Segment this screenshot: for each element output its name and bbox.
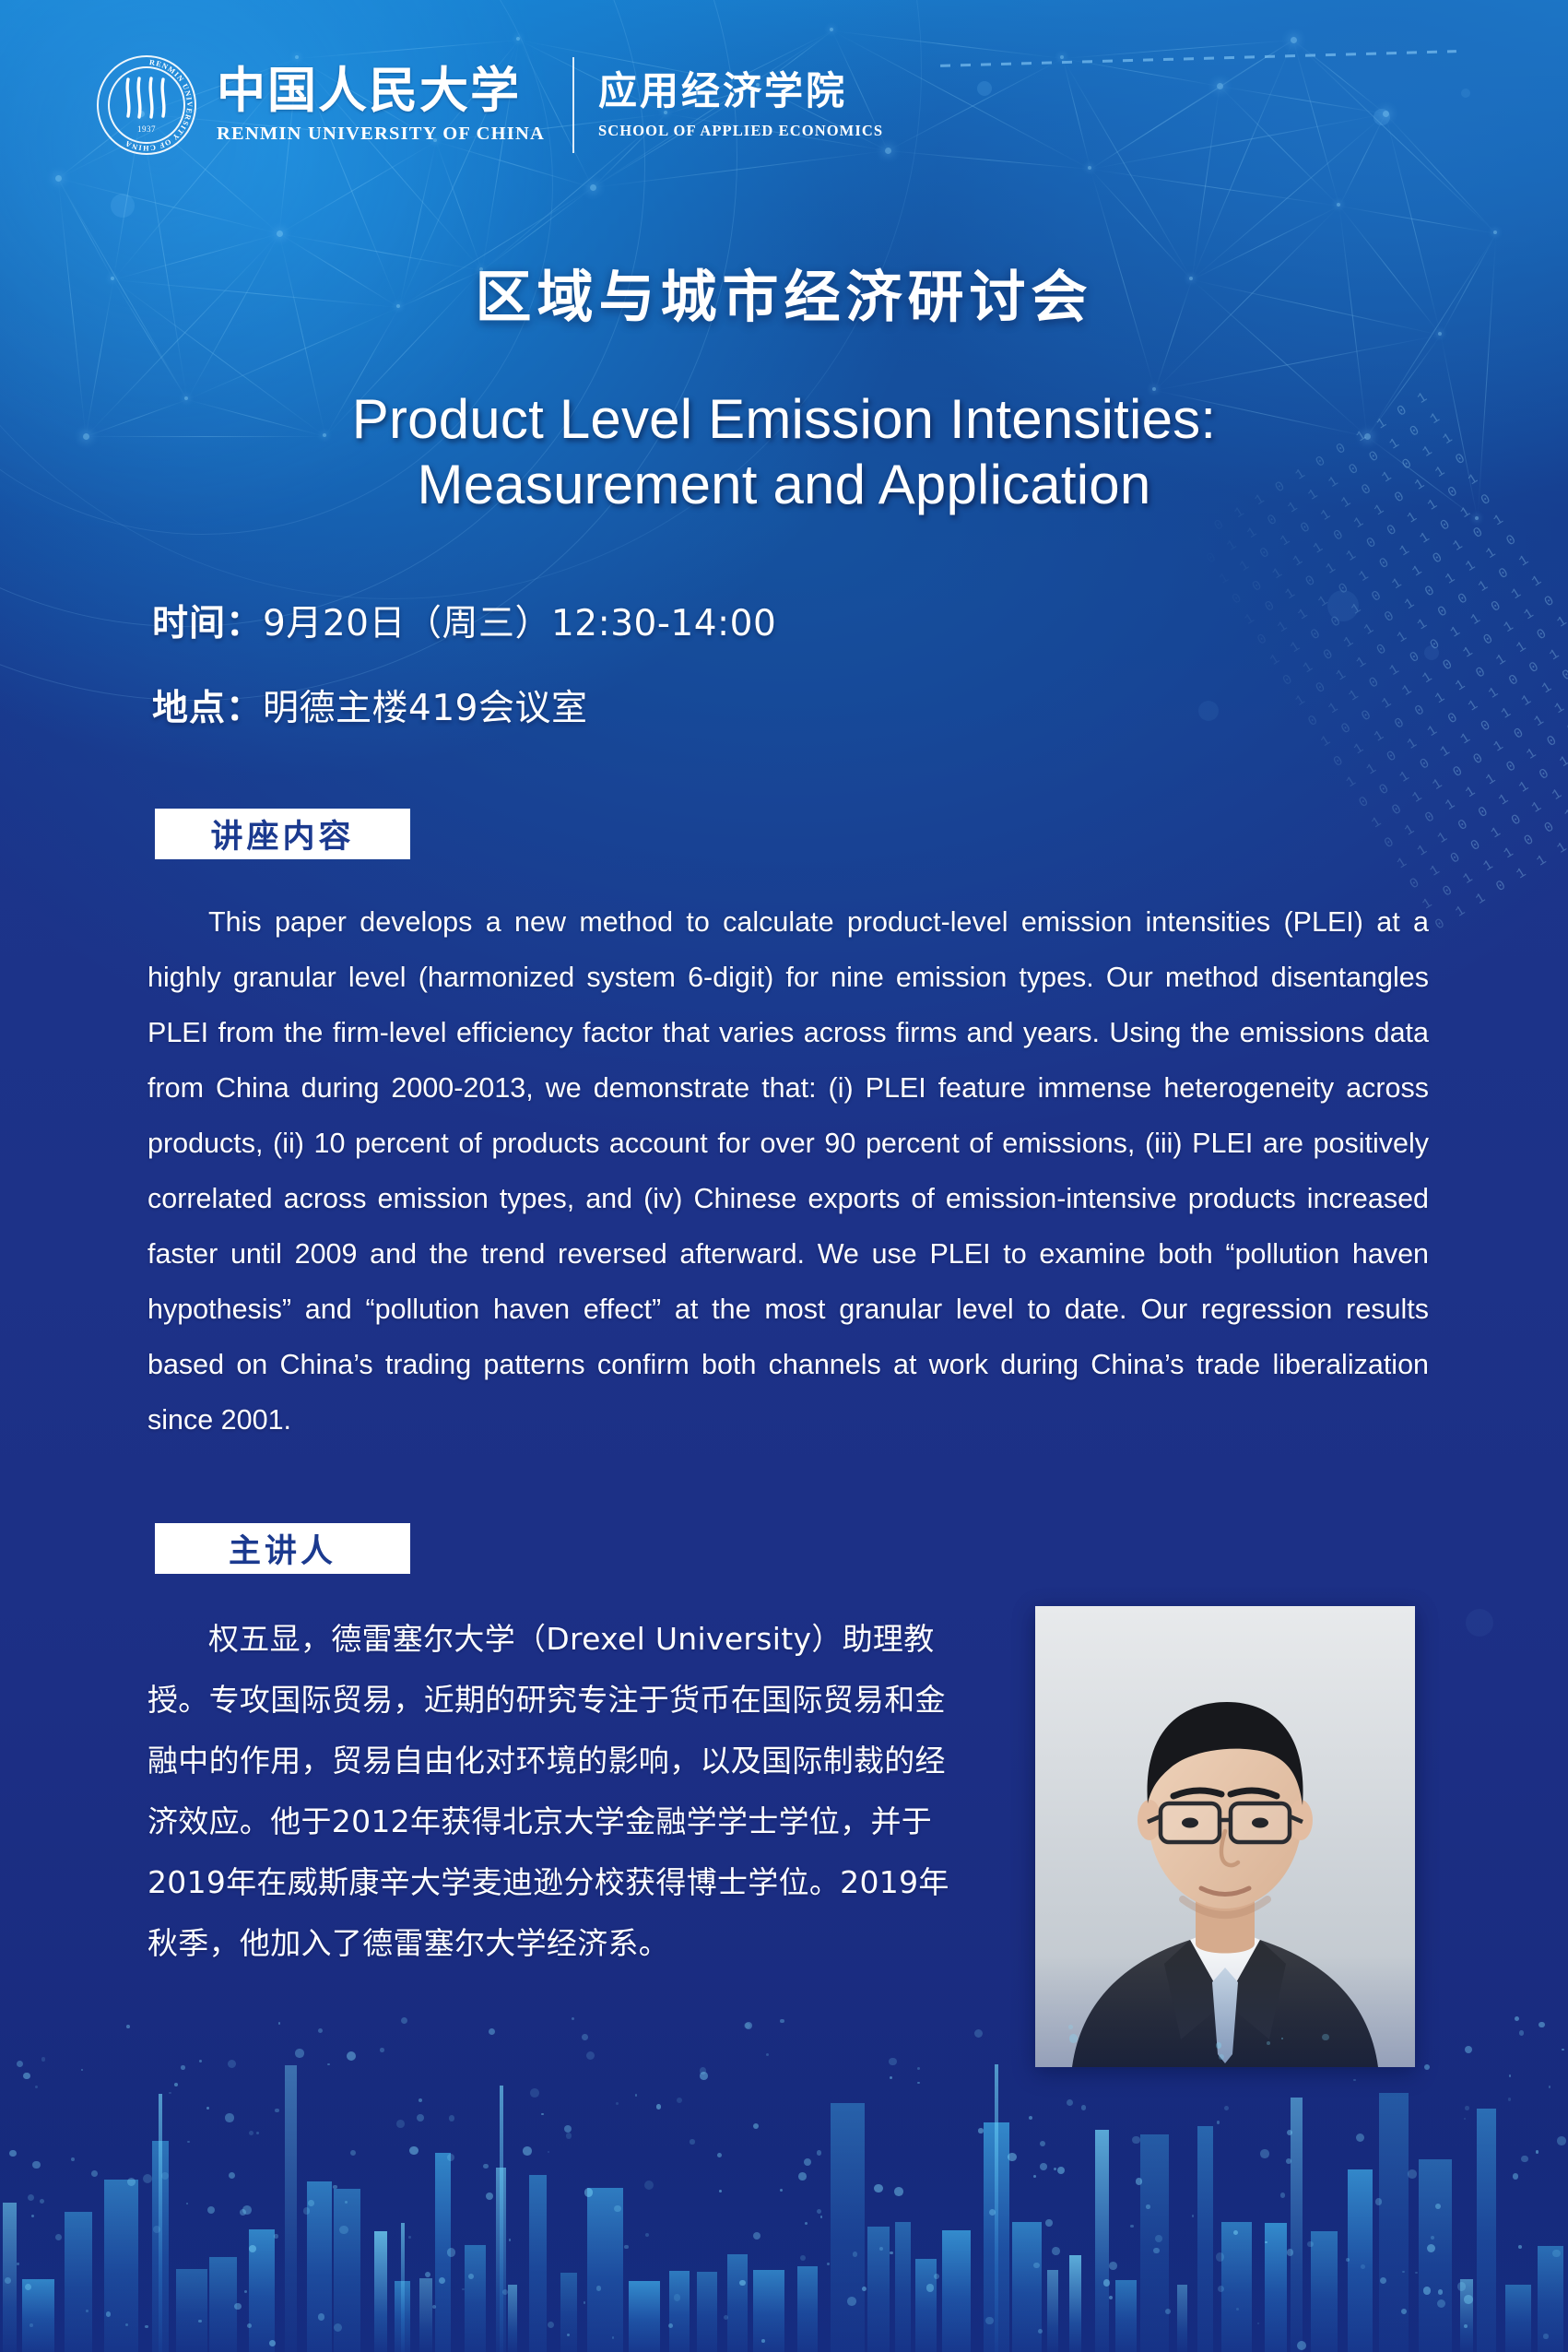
- section-badge-content: 讲座内容: [155, 809, 410, 859]
- header-divider: [572, 57, 574, 153]
- event-place-row: 地点： 明德主楼419会议室: [152, 680, 776, 731]
- event-place-label: 地点：: [152, 680, 263, 731]
- speaker-photo: [1035, 1606, 1415, 2067]
- network-line: [1441, 335, 1479, 519]
- event-time-label: 时间：: [152, 595, 263, 646]
- network-line: [1063, 58, 1193, 279]
- school-name-cn: 应用经济学院: [598, 70, 883, 112]
- network-line: [1192, 40, 1294, 279]
- network-line: [1155, 335, 1441, 391]
- bokeh-dot: [1373, 109, 1390, 125]
- poster-canvas: 1 0 1 1 0 1 0 0 1 1 0 1 0 1 1 0 1 1 1 0 …: [0, 0, 1568, 2352]
- school-name-en: SCHOOL OF APPLIED ECONOMICS: [598, 122, 883, 140]
- event-meta: 时间： 9月20日（周三）12:30-14:00 地点： 明德主楼419会议室: [152, 595, 776, 764]
- bokeh-dot: [1466, 1609, 1493, 1637]
- university-name-en: RENMIN UNIVERSITY OF CHINA: [217, 124, 545, 145]
- bokeh-dot: [111, 194, 135, 218]
- network-line: [593, 150, 888, 188]
- university-seal-icon: RENMIN UNIVERSITY OF CHINA 1937: [97, 55, 196, 155]
- bokeh-dot: [1461, 89, 1470, 98]
- network-line: [279, 141, 436, 234]
- network-line: [1339, 113, 1386, 206]
- paper-title-line1: Product Level Emission Intensities:: [138, 387, 1430, 453]
- network-line: [1063, 58, 1091, 169]
- speaker-portrait-illustration: [1035, 1606, 1415, 2067]
- bokeh-dot: [1198, 701, 1219, 721]
- bokeh-dot: [1327, 590, 1359, 621]
- poster-header: RENMIN UNIVERSITY OF CHINA 1937 中国人民大学 R…: [97, 55, 883, 155]
- school-name-block: 应用经济学院 SCHOOL OF APPLIED ECONOMICS: [598, 70, 883, 139]
- network-line: [1293, 40, 1497, 234]
- paper-title: Product Level Emission Intensities: Meas…: [138, 387, 1430, 518]
- event-time-row: 时间： 9月20日（周三）12:30-14:00: [152, 595, 776, 646]
- event-time-value: 9月20日（周三）12:30-14:00: [263, 595, 776, 646]
- seal-emblem-icon: [121, 76, 172, 120]
- network-line: [1293, 40, 1386, 114]
- series-title: 区域与城市经济研讨会: [0, 251, 1568, 333]
- university-name-block: 中国人民大学 RENMIN UNIVERSITY OF CHINA: [217, 65, 545, 145]
- event-place-value: 明德主楼419会议室: [263, 680, 587, 731]
- abstract-text: This paper develops a new method to calc…: [147, 894, 1429, 1448]
- speaker-bio: 权五显，德雷塞尔大学（Drexel University）助理教授。专攻国际贸易…: [147, 1609, 949, 1974]
- network-line: [888, 58, 1063, 151]
- network-line: [1091, 169, 1339, 207]
- bokeh-dot: [977, 81, 992, 96]
- paper-title-line2: Measurement and Application: [138, 453, 1430, 518]
- section-badge-speaker: 主讲人: [155, 1523, 410, 1574]
- university-name-cn: 中国人民大学: [217, 65, 545, 117]
- bokeh-dot: [1424, 645, 1439, 660]
- seal-year: 1937: [97, 124, 196, 134]
